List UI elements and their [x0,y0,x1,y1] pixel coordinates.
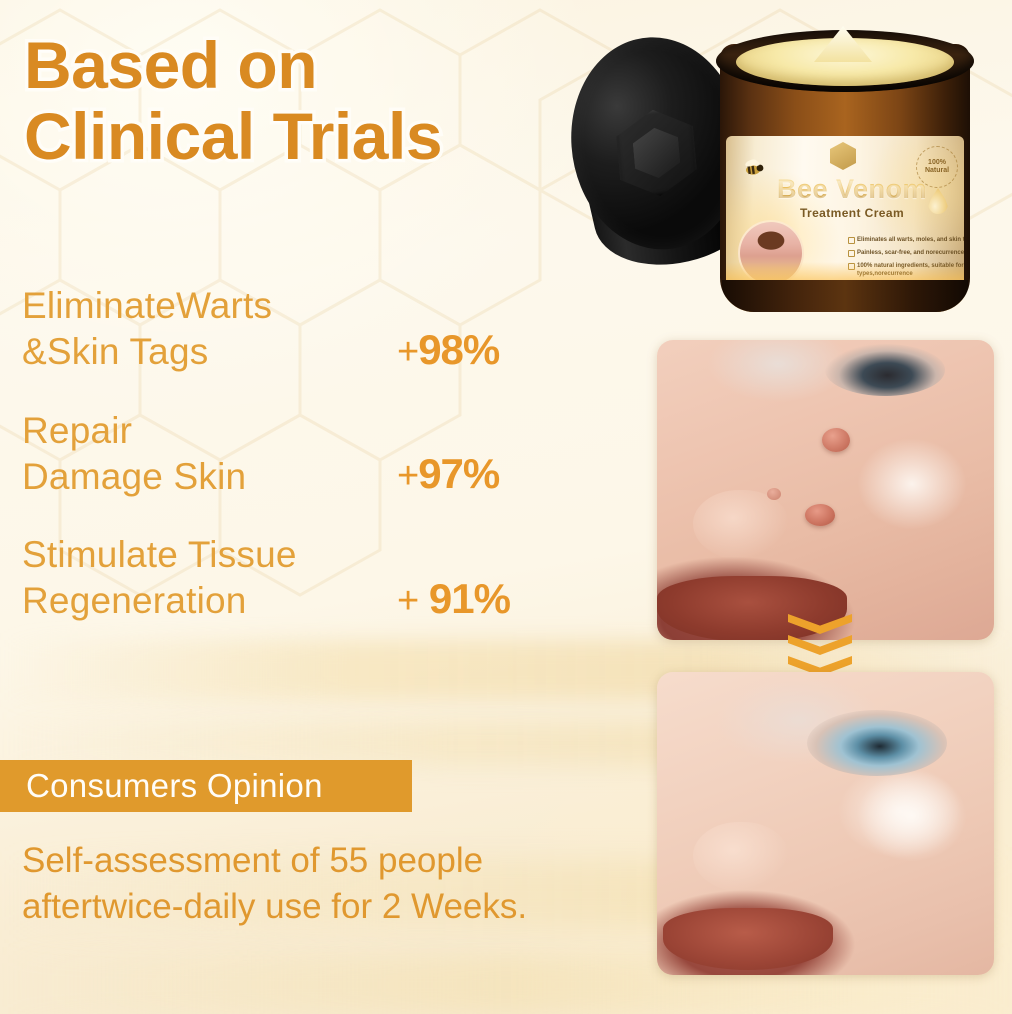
benefit-item: Stimulate Tissue Regeneration + 91% [22,532,582,625]
benefits-list: EliminateWarts &Skin Tags +98% Repair Da… [22,283,582,657]
benefit-label: EliminateWarts &Skin Tags [22,283,397,376]
benefit-item: EliminateWarts &Skin Tags +98% [22,283,582,376]
benefit-label: Stimulate Tissue Regeneration [22,532,397,625]
benefit-percentage: +98% [397,326,499,376]
benefit-plus-sign: + [397,580,418,622]
consumers-opinion-banner: Consumers Opinion [0,760,412,812]
cheek-highlight [857,438,967,530]
nose-region [693,490,789,560]
consumers-opinion-body: Self-assessment of 55 people aftertwice-… [22,838,582,930]
benefit-value: 97% [418,450,499,497]
benefit-percentage: + 91% [397,575,510,625]
product-bullet: Painless, scar-free, and norecurrence [848,249,964,257]
benefit-label: Repair Damage Skin [22,408,397,501]
before-photo [657,340,994,640]
wart-lesion [822,428,850,452]
label-crest-icon [830,142,856,170]
natural-badge-line-1: 100% [928,159,946,167]
brand-emblem-icon [614,104,698,201]
benefit-label-line-1: Stimulate Tissue [22,532,397,578]
chevron-segment [788,614,852,634]
chevron-down-icon [788,614,858,676]
benefit-value: 91% [429,575,510,622]
cheek-highlight [857,770,967,862]
cream-content [736,38,954,86]
benefit-value: 98% [418,326,499,373]
after-photo [657,672,994,975]
headline-line-1: Based on [24,28,317,102]
benefit-plus-sign: + [397,455,418,497]
page-title: Based on Clinical Trials [24,30,644,173]
lips-region [663,908,833,970]
product-subtitle: Treatment Cream [762,206,942,220]
wart-lesion [805,504,835,526]
benefit-percentage: +97% [397,450,499,500]
natural-badge-line-2: Natural [925,167,949,175]
benefit-label-line-1: EliminateWarts [22,283,397,329]
benefit-label-line-1: Repair [22,408,397,454]
product-image: Bee Venom Treatment Cream 100% Natural E… [570,8,990,318]
eye-region [807,710,947,776]
benefit-item: Repair Damage Skin +97% [22,408,582,501]
chevron-segment [788,635,852,655]
nose-region [693,822,789,892]
headline-line-2: Clinical Trials [24,101,644,172]
product-bullet: Eliminates all warts, moles, and skin ta… [848,236,964,244]
jar-container: Bee Venom Treatment Cream 100% Natural E… [720,18,980,318]
natural-badge: 100% Natural [916,146,958,188]
jar-base [722,280,968,312]
benefit-label-line-2: Regeneration [22,578,397,624]
product-name: Bee Venom [762,174,942,205]
benefit-label-line-2: Damage Skin [22,454,397,500]
product-poster: Based on Clinical Trials EliminateWarts … [0,0,1012,1014]
eye-region [825,344,945,396]
wart-lesion [767,488,781,500]
benefit-label-line-2: &Skin Tags [22,329,397,375]
benefit-plus-sign: + [397,331,418,373]
consumers-opinion-label: Consumers Opinion [0,767,323,805]
